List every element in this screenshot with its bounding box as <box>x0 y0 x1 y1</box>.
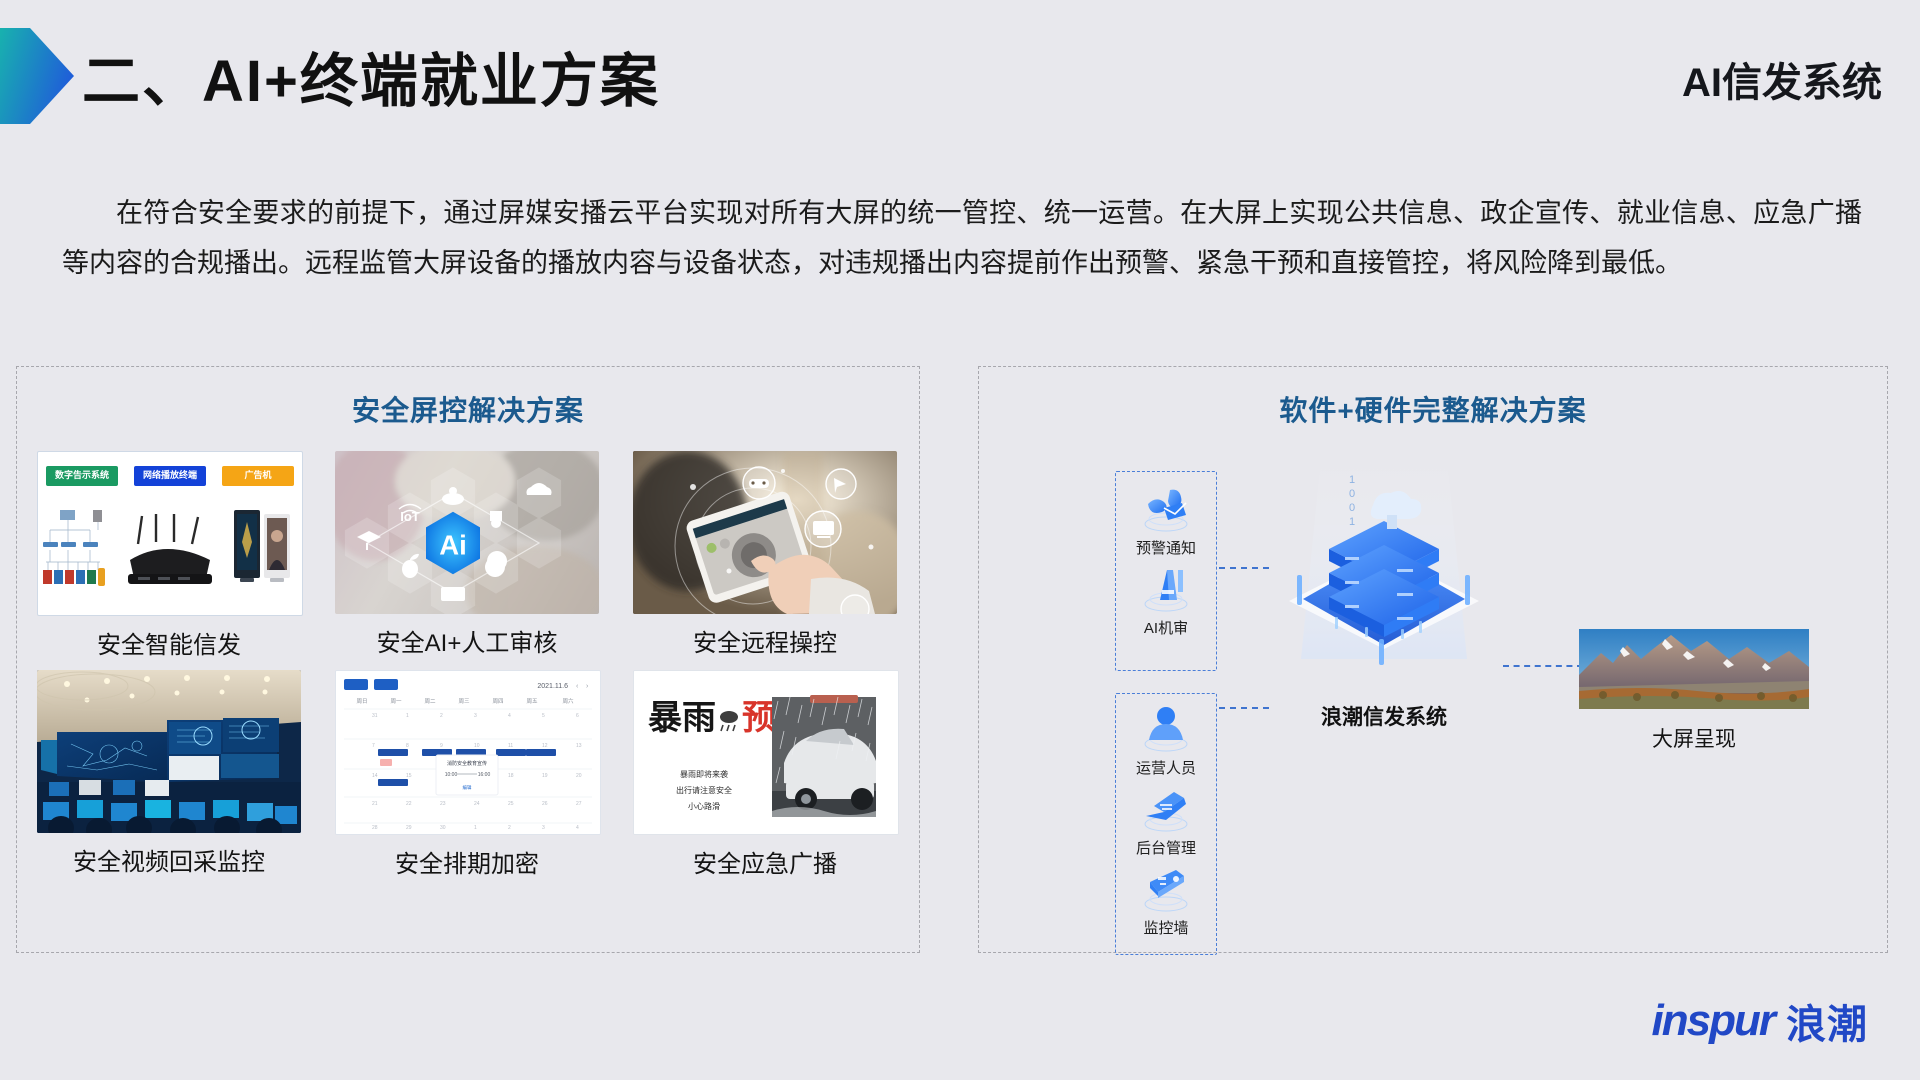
svg-text:18: 18 <box>508 773 514 779</box>
control-room-illustration <box>37 670 301 833</box>
right-panel-title: 软件+硬件完整解决方案 <box>979 389 1887 429</box>
card-smart-signage[interactable]: 数字告示系统 网络播放终端 广告机 <box>37 451 301 660</box>
node-label: AI机审 <box>1144 617 1188 638</box>
node-alert-notification[interactable]: 预警通知 <box>1136 482 1196 558</box>
svg-text:1: 1 <box>474 825 477 831</box>
svg-text:消防安全教育宣传: 消防安全教育宣传 <box>447 760 487 767</box>
svg-text:7: 7 <box>372 743 375 749</box>
node-label: 预警通知 <box>1136 537 1196 558</box>
svg-text:2: 2 <box>440 713 443 719</box>
svg-text:22: 22 <box>406 801 412 807</box>
solution-card-grid: 数字告示系统 网络播放终端 广告机 <box>37 451 899 889</box>
calendar-thumbnail: 2021.11.6 ‹ › 周日周一周二 周三周四周五周六 31123456 7 <box>335 670 601 835</box>
card-emergency-broadcast[interactable]: 暴雨 预警 暴雨即将来袭 出行请注意安全 小心路滑 <box>633 670 897 879</box>
svg-text:19: 19 <box>542 773 548 779</box>
svg-text:9: 9 <box>440 743 443 749</box>
svg-text:12: 12 <box>542 743 548 749</box>
card-caption: 安全智能信发 <box>37 625 301 660</box>
svg-text:4: 4 <box>508 713 511 719</box>
svg-text:20: 20 <box>576 773 582 779</box>
badge-digital-signage: 数字告示系统 <box>46 466 118 486</box>
ai-review-thumbnail: Ai <box>335 451 599 614</box>
card-caption: 安全排期加密 <box>335 844 599 879</box>
card-caption: 安全AI+人工审核 <box>335 623 599 658</box>
signage-illustration <box>38 504 302 594</box>
node-label: 后台管理 <box>1136 837 1196 858</box>
badge-network-player: 网络播放终端 <box>134 466 206 486</box>
svg-text:1: 1 <box>406 713 409 719</box>
operator-person-icon <box>1136 702 1196 756</box>
svg-text:编辑: 编辑 <box>463 784 472 791</box>
svg-text:6: 6 <box>576 713 579 719</box>
svg-text:29: 29 <box>406 825 412 831</box>
card-schedule-encryption[interactable]: 2021.11.6 ‹ › 周日周一周二 周三周四周五周六 31123456 7 <box>335 670 599 879</box>
node-operator[interactable]: 运营人员 <box>1136 702 1196 778</box>
page-header: 二、AI+终端就业方案 AI信发系统 <box>0 0 1920 150</box>
page-title: 二、AI+终端就业方案 <box>82 34 660 118</box>
monitor-wall-icon <box>1136 862 1196 916</box>
tablet-hand-illustration <box>633 451 897 614</box>
svg-text:暴雨: 暴雨 <box>648 699 716 737</box>
logo-en-text: inspur <box>1652 996 1774 1046</box>
group-operations: 运营人员 后台管理 <box>1115 693 1217 955</box>
svg-text:4: 4 <box>576 825 579 831</box>
node-label: 运营人员 <box>1136 757 1196 778</box>
node-ai-review[interactable]: AI机审 <box>1136 562 1196 638</box>
svg-text:Ai: Ai <box>439 529 467 560</box>
svg-text:28: 28 <box>372 825 378 831</box>
svg-text:10:00: 10:00 <box>445 772 458 778</box>
svg-text:0: 0 <box>1349 488 1355 500</box>
svg-text:24: 24 <box>474 801 480 807</box>
ai-hexagon-illustration: Ai <box>335 451 599 614</box>
svg-text:3: 3 <box>542 825 545 831</box>
output-label: 大屏呈现 <box>1579 723 1809 753</box>
svg-text:周二: 周二 <box>424 698 436 705</box>
svg-text:21: 21 <box>372 801 378 807</box>
chevron-accent-icon <box>0 28 74 124</box>
card-row: 安全视频回采监控 2021.11.6 ‹ › 周日周一周二 周三周四周五周六 <box>37 670 899 879</box>
svg-text:5: 5 <box>542 713 545 719</box>
svg-text:小心路滑: 小心路滑 <box>688 801 720 811</box>
svg-text:2021.11.6: 2021.11.6 <box>537 683 568 690</box>
node-label: 监控墙 <box>1143 917 1188 938</box>
logo-cn-text: 浪潮 <box>1786 992 1868 1050</box>
connector-right <box>1503 665 1583 667</box>
right-solution-panel: 软件+硬件完整解决方案 预警通知 <box>978 366 1888 953</box>
laptop-admin-icon <box>1136 782 1196 836</box>
node-monitor-wall[interactable]: 监控墙 <box>1136 862 1196 938</box>
svg-text:8: 8 <box>406 743 409 749</box>
left-solution-panel: 安全屏控解决方案 数字告示系统 网络播放终端 广告机 <box>16 366 920 953</box>
svg-text:30: 30 <box>440 825 446 831</box>
svg-text:2: 2 <box>508 825 511 831</box>
svg-text:27: 27 <box>576 801 582 807</box>
card-caption: 安全视频回采监控 <box>37 842 301 877</box>
svg-text:15: 15 <box>406 773 412 779</box>
signage-badges: 数字告示系统 网络播放终端 广告机 <box>38 466 302 486</box>
left-panel-title: 安全屏控解决方案 <box>17 389 919 429</box>
svg-text:23: 23 <box>440 801 446 807</box>
svg-text:3: 3 <box>474 713 477 719</box>
svg-text:10: 10 <box>474 743 480 749</box>
svg-text:31: 31 <box>372 713 378 719</box>
server-stack-cloud-icon: 1001 <box>1269 449 1499 699</box>
remote-control-thumbnail <box>633 451 897 614</box>
system-name-title: AI信发系统 <box>1682 50 1882 108</box>
svg-text:26: 26 <box>542 801 548 807</box>
alert-notification-icon <box>1136 482 1196 536</box>
center-system-label: 浪潮信发系统 <box>1234 701 1534 731</box>
svg-text:0: 0 <box>1349 502 1355 514</box>
svg-text:出行请注意安全: 出行请注意安全 <box>676 785 732 795</box>
svg-text:13: 13 <box>576 743 582 749</box>
svg-text:暴雨即将来袭: 暴雨即将来袭 <box>680 769 728 779</box>
svg-text:周六: 周六 <box>562 697 574 705</box>
calendar-schedule-illustration: 2021.11.6 ‹ › 周日周一周二 周三周四周五周六 31123456 7 <box>336 671 600 834</box>
svg-text:周五: 周五 <box>526 698 538 705</box>
svg-text:1: 1 <box>1349 516 1355 528</box>
card-caption: 安全远程操控 <box>633 623 897 658</box>
card-ai-human-review[interactable]: Ai <box>335 451 599 660</box>
badge-ad-machine: 广告机 <box>222 466 294 486</box>
ai-letter-icon <box>1136 562 1196 616</box>
svg-text:周日: 周日 <box>356 698 367 705</box>
architecture-diagram: 预警通知 AI机审 <box>979 439 1887 939</box>
svg-text:14: 14 <box>372 773 378 779</box>
card-caption: 安全应急广播 <box>633 844 897 879</box>
card-remote-control[interactable]: 安全远程操控 <box>633 451 897 660</box>
mountain-landscape-photo <box>1579 629 1809 709</box>
card-video-monitoring[interactable]: 安全视频回采监控 <box>37 670 301 879</box>
svg-text:11: 11 <box>508 743 513 749</box>
big-screen-output <box>1579 629 1809 709</box>
svg-text:周四: 周四 <box>492 698 503 705</box>
node-backend-admin[interactable]: 后台管理 <box>1136 782 1196 858</box>
intro-paragraph: 在符合安全要求的前提下，通过屏媒安播云平台实现对所有大屏的统一管控、统一运营。在… <box>62 188 1862 288</box>
svg-text:25: 25 <box>508 801 514 807</box>
group-alerting: 预警通知 AI机审 <box>1115 471 1217 671</box>
signage-thumbnail: 数字告示系统 网络播放终端 广告机 <box>37 451 303 616</box>
svg-text:周三: 周三 <box>458 698 470 705</box>
emergency-broadcast-thumbnail: 暴雨 预警 暴雨即将来袭 出行请注意安全 小心路滑 <box>633 670 899 835</box>
svg-text:1: 1 <box>1349 474 1355 486</box>
control-room-thumbnail <box>37 670 301 833</box>
inspur-logo: inspur 浪潮 <box>1652 992 1868 1050</box>
svg-text:周一: 周一 <box>390 698 402 705</box>
card-row: 数字告示系统 网络播放终端 广告机 <box>37 451 899 660</box>
connector-left-top <box>1219 567 1269 569</box>
svg-text:16:00: 16:00 <box>478 772 491 778</box>
rainstorm-alert-illustration: 暴雨 预警 暴雨即将来袭 出行请注意安全 小心路滑 <box>634 671 898 834</box>
